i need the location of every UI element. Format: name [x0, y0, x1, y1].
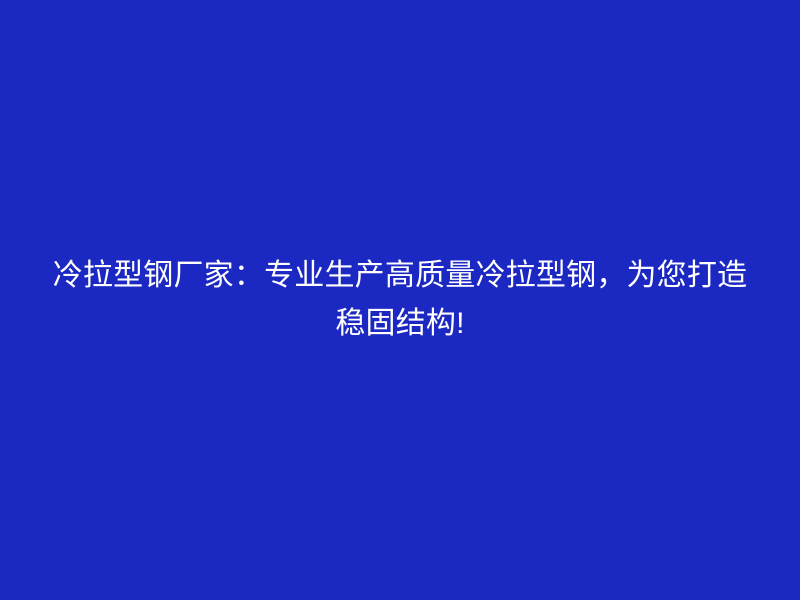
banner-canvas: 冷拉型钢厂家：专业生产高质量冷拉型钢，为您打造稳固结构!	[0, 0, 800, 600]
headline-container: 冷拉型钢厂家：专业生产高质量冷拉型钢，为您打造稳固结构!	[50, 252, 750, 348]
banner-headline: 冷拉型钢厂家：专业生产高质量冷拉型钢，为您打造稳固结构!	[50, 252, 750, 348]
